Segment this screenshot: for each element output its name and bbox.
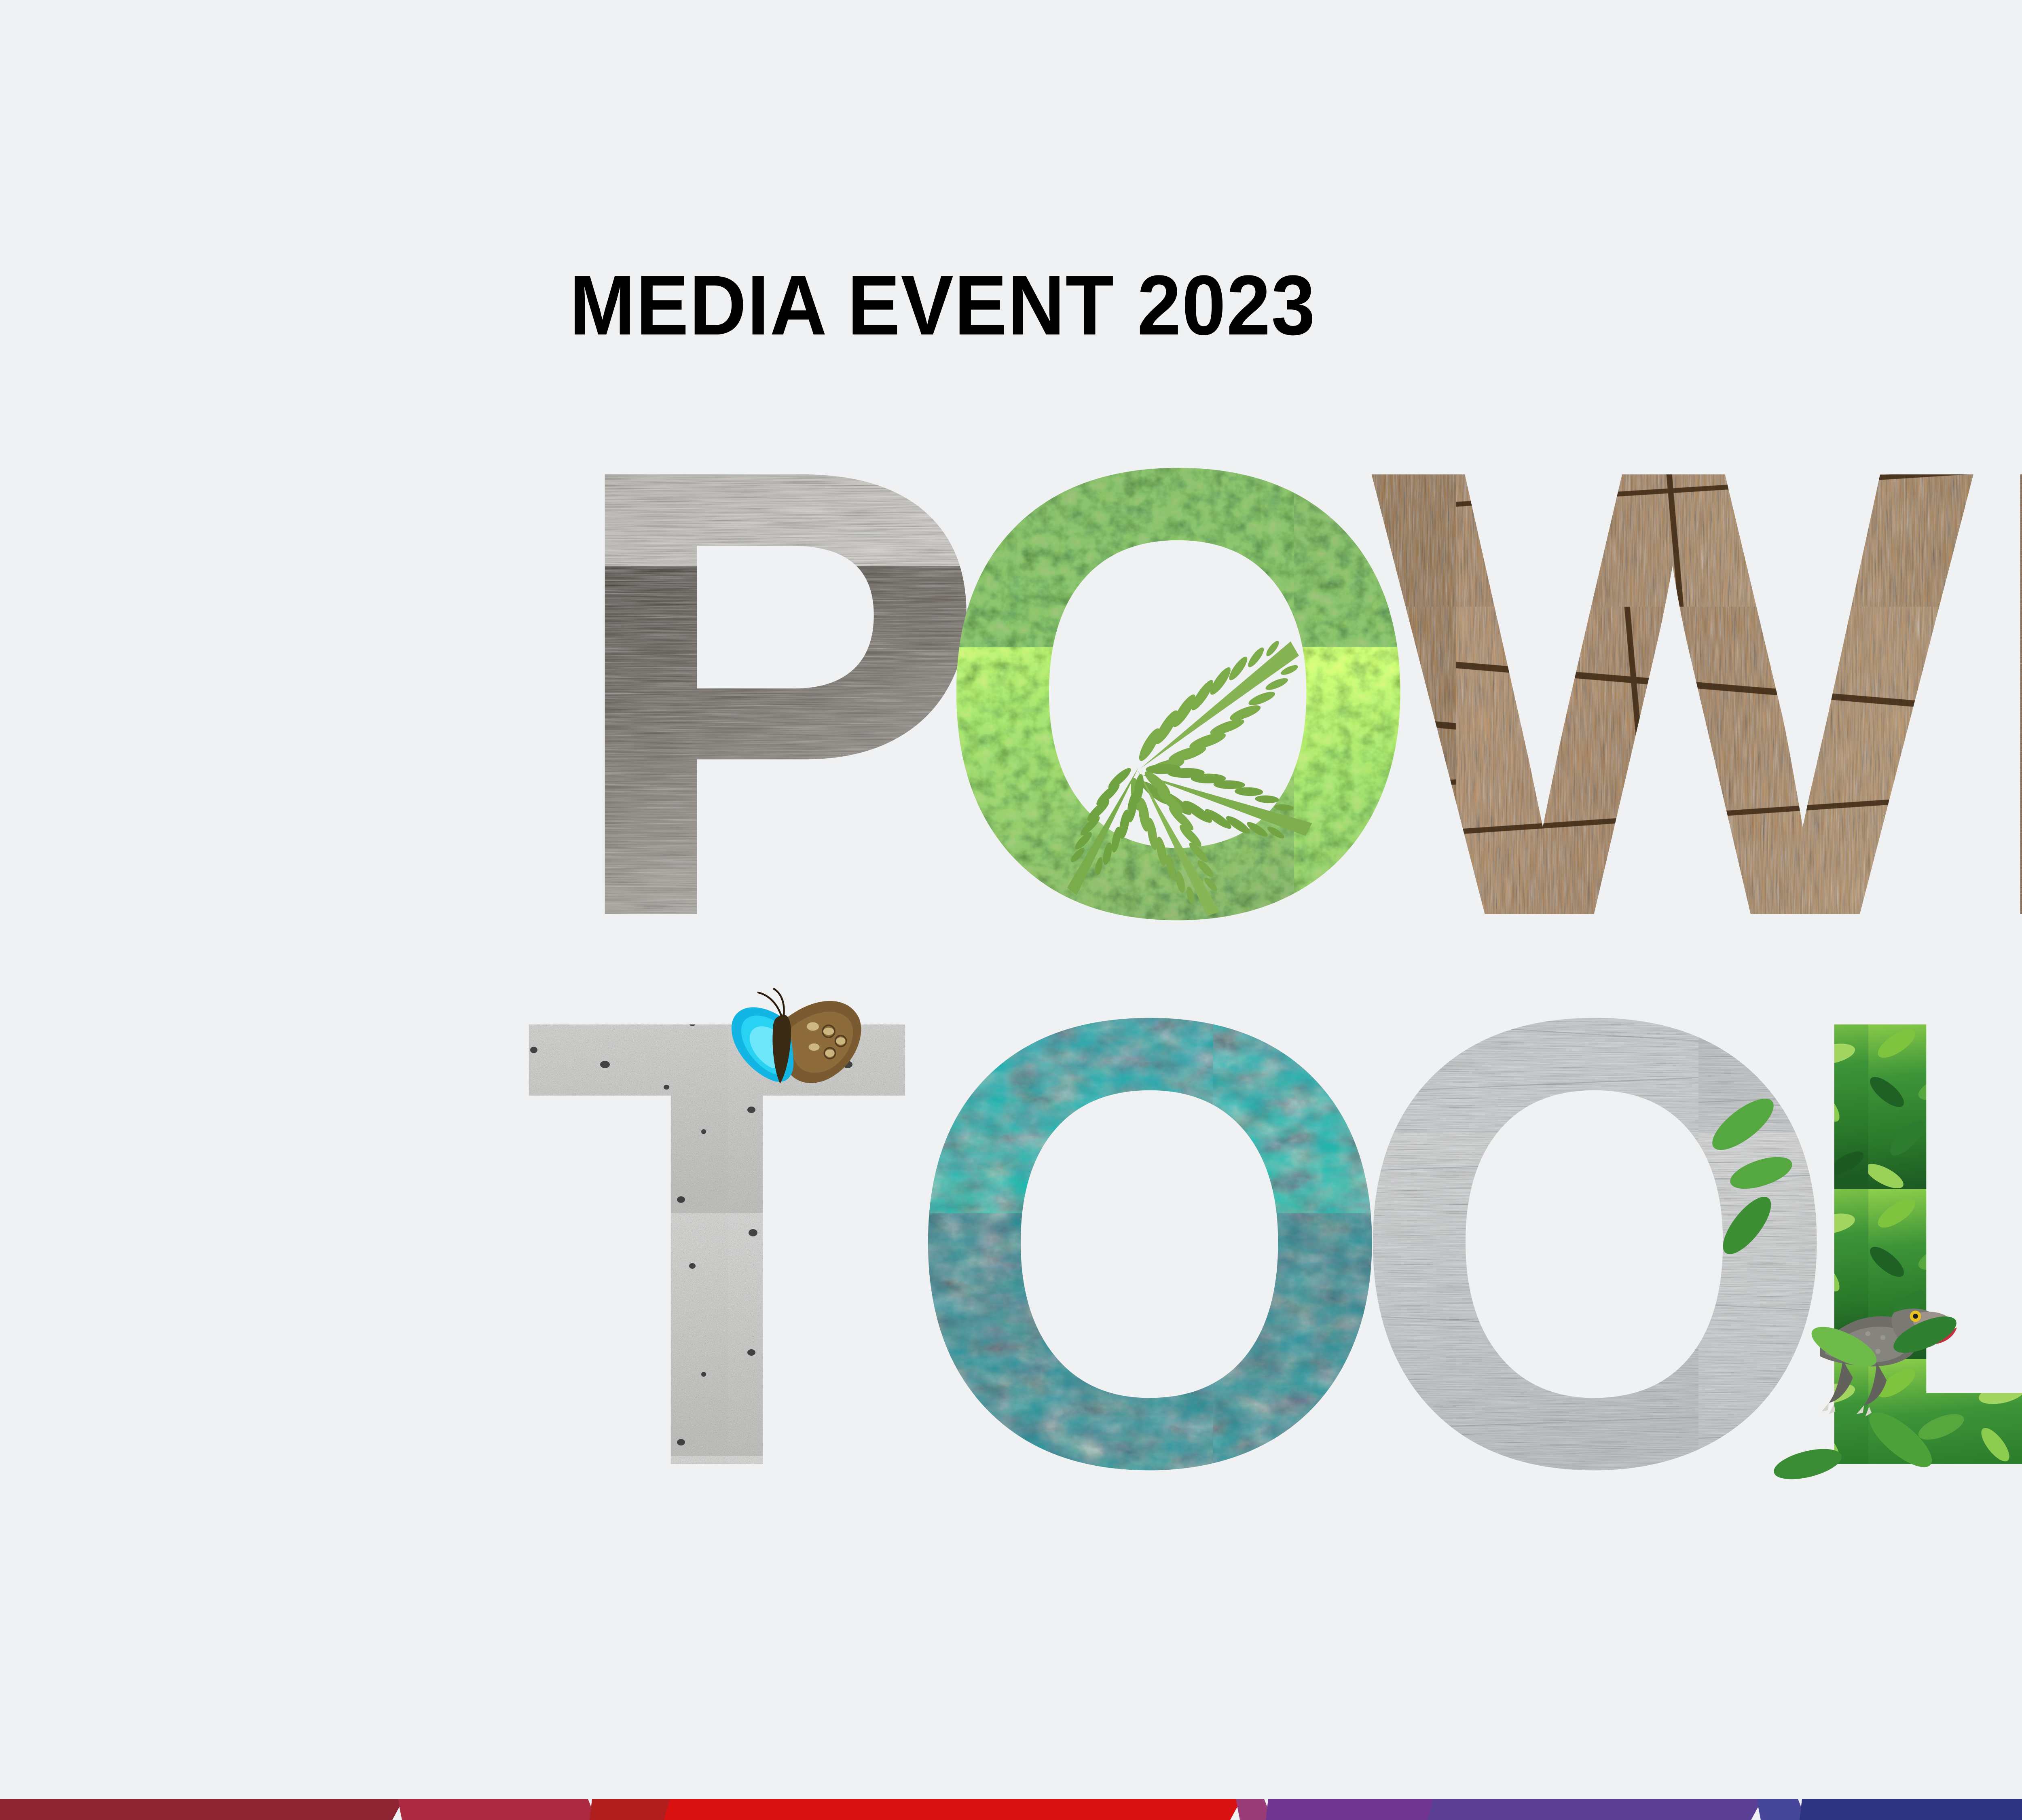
- supergraphic-segment: [664, 1799, 1242, 1820]
- fern-icon: [1051, 624, 1318, 927]
- supergraphic-segment: [1800, 1799, 2022, 1820]
- letter-w-wood: [1335, 243, 2022, 971]
- letter-o-ocean: [869, 930, 1395, 1577]
- letter-l-leaves: [1759, 930, 2022, 1577]
- supergraphic-segment: [1266, 1799, 1436, 1820]
- supergraphic-segment: [590, 1799, 672, 1820]
- supergraphic-segment: [1428, 1799, 1762, 1820]
- butterfly-icon: [732, 989, 861, 1084]
- supergraphic-segment: [1757, 1799, 1806, 1820]
- headline-line-tools: [485, 930, 2022, 1577]
- letter-t-concrete: [485, 930, 971, 1577]
- supergraphic-segment: [0, 1799, 404, 1820]
- bosch-supergraphic: [0, 1799, 2022, 1820]
- poster-canvas: MEDIA EVENT 2023: [0, 0, 2022, 1820]
- letter-o-metal: [1314, 930, 1840, 1577]
- letter-e-bark: [1941, 243, 2022, 971]
- supergraphic-segment: [398, 1799, 596, 1820]
- page-title-eyebrow: MEDIA EVENT 2023: [569, 263, 1316, 348]
- leaf-sprig-icon: [1705, 1090, 2022, 1485]
- komodo-dragon-icon: [1820, 1309, 1957, 1417]
